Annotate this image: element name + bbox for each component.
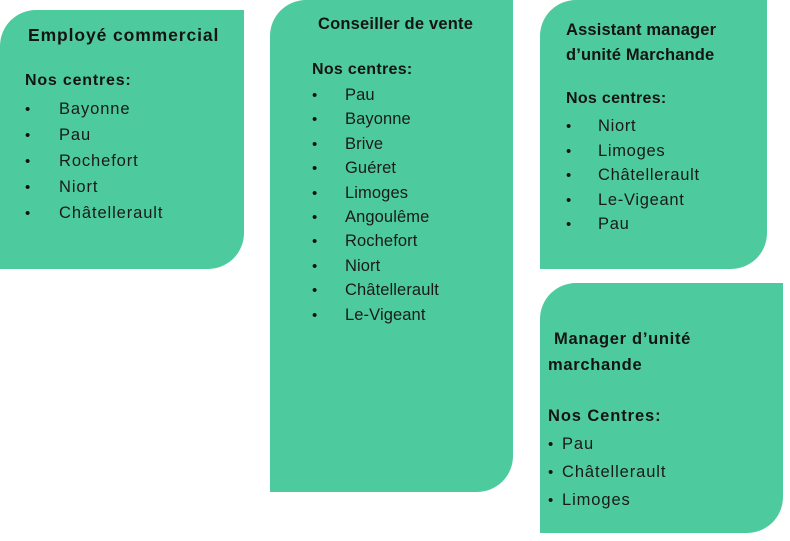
bullet-icon: •: [25, 153, 59, 170]
cards-board: Employé commercial Nos centres: • Bayonn…: [0, 0, 790, 541]
centre-name: Bayonne: [59, 100, 234, 119]
centres-list: • Pau • Châtellerault • Limoges: [548, 435, 773, 519]
list-item: • Pau: [566, 215, 757, 240]
list-item: • Brive: [312, 135, 503, 159]
card-title-line-2: marchande: [548, 352, 763, 378]
card-title-line-1: Assistant manager: [566, 21, 716, 39]
section-label-nos-centres: Nos centres:: [25, 71, 132, 91]
centre-name: Niort: [345, 257, 503, 276]
bullet-icon: •: [312, 258, 345, 275]
centre-name: Rochefort: [345, 232, 503, 251]
list-item: • Limoges: [312, 184, 503, 208]
bullet-icon: •: [312, 233, 345, 250]
centre-name: Bayonne: [345, 110, 503, 129]
card-assistant-manager-unite-marchande[interactable]: Assistant manager d’unité Marchande Nos …: [540, 0, 767, 269]
list-item: • Bayonne: [312, 110, 503, 134]
bullet-icon: •: [566, 143, 598, 160]
bullet-icon: •: [312, 282, 345, 299]
centre-name: Rochefort: [59, 152, 234, 171]
centre-name: Limoges: [598, 142, 757, 161]
list-item: • Limoges: [548, 491, 773, 519]
centre-name: Le-Vigeant: [598, 191, 757, 210]
centre-name: Le-Vigeant: [345, 306, 503, 325]
centres-list: • Niort • Limoges • Châtellerault • Le-V…: [566, 117, 757, 240]
centre-name: Angoulême: [345, 208, 503, 227]
centre-name: Niort: [598, 117, 757, 136]
card-conseiller-de-vente[interactable]: Conseiller de vente Nos centres: • Pau •…: [270, 0, 513, 492]
card-title: Assistant manager d’unité Marchande: [566, 18, 751, 68]
bullet-icon: •: [312, 209, 345, 226]
centre-name: Pau: [562, 435, 773, 454]
list-item: • Pau: [312, 86, 503, 110]
section-label-nos-centres: Nos Centres:: [548, 406, 662, 426]
list-item: • Limoges: [566, 142, 757, 167]
bullet-icon: •: [312, 307, 345, 324]
list-item: • Le-Vigeant: [312, 306, 503, 330]
list-item: • Rochefort: [25, 152, 234, 178]
bullet-icon: •: [25, 205, 59, 222]
card-title: Conseiller de vente: [318, 14, 473, 35]
card-title: Employé commercial: [28, 24, 219, 46]
bullet-icon: •: [312, 185, 345, 202]
bullet-icon: •: [25, 127, 59, 144]
section-label-nos-centres: Nos centres:: [312, 60, 413, 80]
list-item: • Niort: [566, 117, 757, 142]
centre-name: Niort: [59, 178, 234, 197]
centre-name: Châtellerault: [345, 281, 503, 300]
list-item: • Guéret: [312, 159, 503, 183]
list-item: • Châtellerault: [312, 281, 503, 305]
centres-list: • Bayonne • Pau • Rochefort • Niort • Ch…: [25, 100, 234, 230]
centre-name: Pau: [59, 126, 234, 145]
bullet-icon: •: [566, 167, 598, 184]
bullet-icon: •: [312, 136, 345, 153]
centre-name: Châtellerault: [562, 463, 773, 482]
list-item: • Pau: [548, 435, 773, 463]
list-item: • Bayonne: [25, 100, 234, 126]
centres-list: • Pau • Bayonne • Brive • Guéret • Limog…: [312, 86, 503, 330]
bullet-icon: •: [312, 111, 345, 128]
centre-name: Pau: [345, 86, 503, 105]
bullet-icon: •: [566, 192, 598, 209]
centre-name: Brive: [345, 135, 503, 154]
list-item: • Châtellerault: [548, 463, 773, 491]
list-item: • Rochefort: [312, 232, 503, 256]
list-item: • Angoulême: [312, 208, 503, 232]
bullet-icon: •: [25, 179, 59, 196]
centre-name: Limoges: [562, 491, 773, 510]
section-label-nos-centres: Nos centres:: [566, 89, 667, 109]
bullet-icon: •: [312, 160, 345, 177]
list-item: • Niort: [312, 257, 503, 281]
card-title-line-2: d’unité Marchande: [566, 46, 714, 64]
card-title: Manager d’unité marchande: [548, 326, 763, 378]
centre-name: Guéret: [345, 159, 503, 178]
centre-name: Pau: [598, 215, 757, 234]
list-item: • Niort: [25, 178, 234, 204]
centre-name: Châtellerault: [59, 204, 234, 223]
bullet-icon: •: [548, 464, 562, 481]
list-item: • Châtellerault: [566, 166, 757, 191]
centre-name: Limoges: [345, 184, 503, 203]
list-item: • Le-Vigeant: [566, 191, 757, 216]
card-title-line-1: Manager d’unité: [554, 330, 691, 348]
card-employe-commercial[interactable]: Employé commercial Nos centres: • Bayonn…: [0, 10, 244, 269]
bullet-icon: •: [566, 216, 598, 233]
list-item: • Pau: [25, 126, 234, 152]
bullet-icon: •: [548, 492, 562, 509]
card-manager-unite-marchande[interactable]: Manager d’unité marchande Nos Centres: •…: [540, 283, 783, 533]
list-item: • Châtellerault: [25, 204, 234, 230]
bullet-icon: •: [25, 101, 59, 118]
centre-name: Châtellerault: [598, 166, 757, 185]
bullet-icon: •: [312, 87, 345, 104]
bullet-icon: •: [566, 118, 598, 135]
bullet-icon: •: [548, 436, 562, 453]
